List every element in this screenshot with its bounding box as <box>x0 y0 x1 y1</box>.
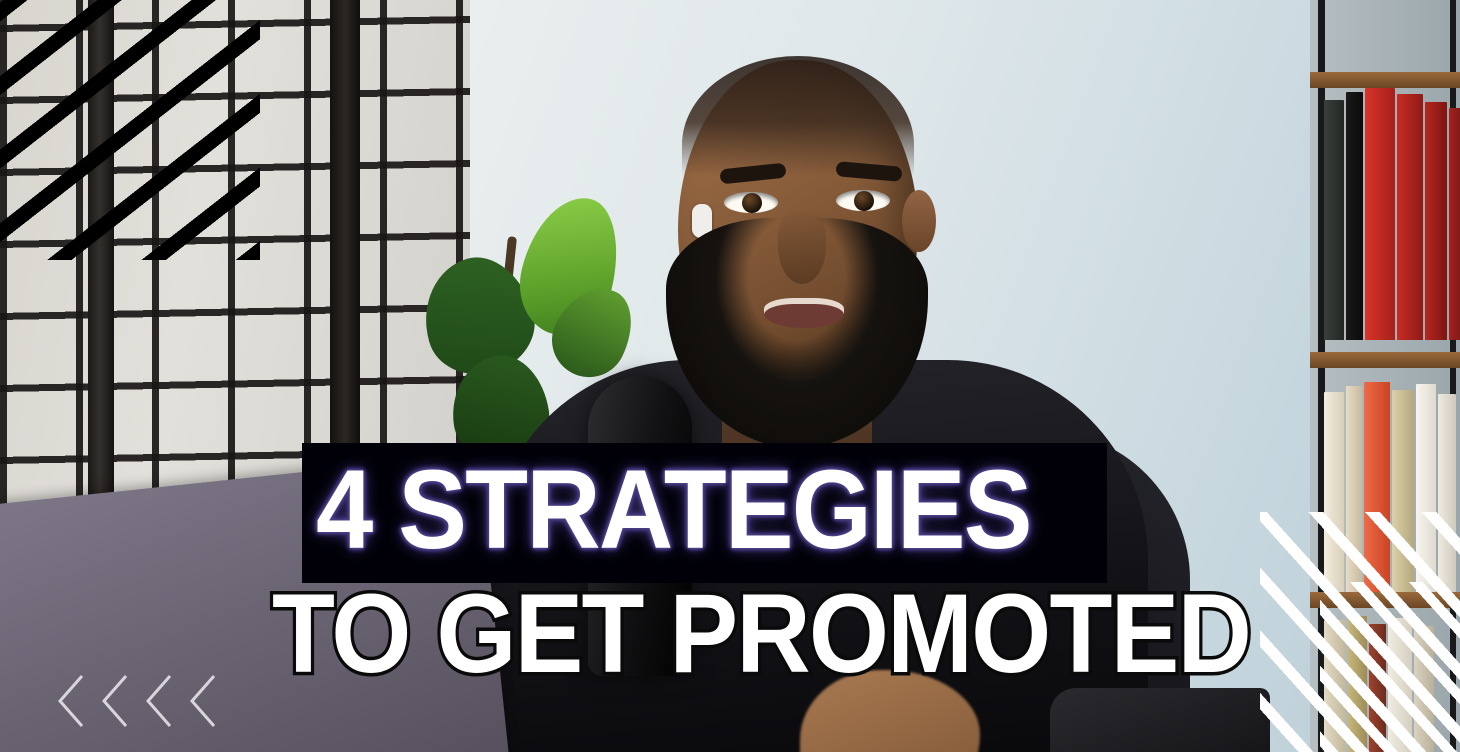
shelf-board-top <box>1310 72 1460 88</box>
book-spine <box>1397 94 1423 340</box>
ear <box>902 190 936 252</box>
book-spine <box>1365 88 1395 340</box>
black-diagonal-stripes-icon <box>0 0 260 260</box>
video-frame: 4 STRATEGIES TO GET PROMOTED <box>0 0 1460 752</box>
chevron-left-icon <box>184 670 226 732</box>
book-spine <box>1449 108 1460 340</box>
nose <box>778 208 826 284</box>
white-diagonal-stripes-icon <box>1260 512 1460 752</box>
chevron-group <box>52 665 232 737</box>
leather-office-chair <box>1050 688 1270 752</box>
pupil <box>742 193 762 213</box>
chevron-left-icon <box>52 670 94 732</box>
podcast-microphone <box>588 376 692 676</box>
mouth <box>764 298 844 328</box>
speaker-person <box>470 40 1170 752</box>
book-spine <box>1425 102 1447 340</box>
book-spine <box>1324 100 1344 340</box>
shelf-board-middle <box>1310 352 1460 368</box>
pupil <box>854 191 874 211</box>
hairline <box>682 56 914 176</box>
book-group-top <box>1324 90 1460 340</box>
chevron-left-icon <box>140 670 182 732</box>
chevron-left-icon <box>96 670 138 732</box>
book-spine <box>1346 92 1363 340</box>
microphone-grille <box>588 454 692 480</box>
